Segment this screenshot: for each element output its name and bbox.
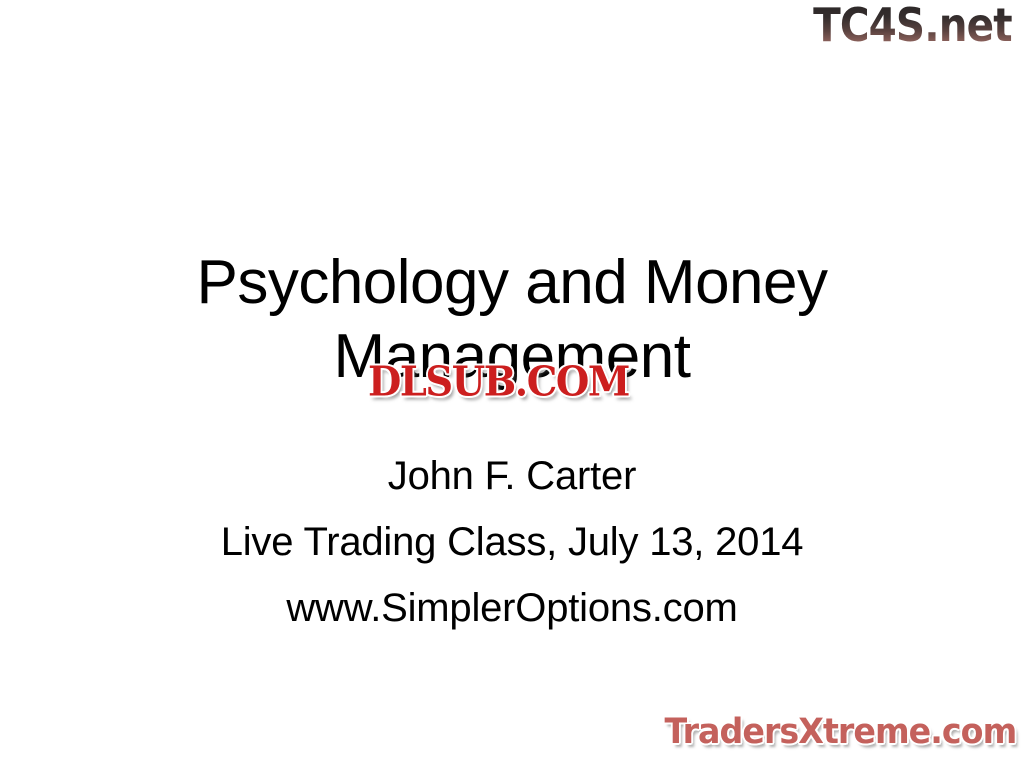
presentation-slide: TC4S.net Psychology and Money Management… bbox=[0, 0, 1024, 768]
watermark-tc4s-net: TC4S.net bbox=[813, 0, 1012, 50]
watermark-dlsub-com: DLSUB.COM bbox=[368, 358, 629, 406]
slide-subtitle-presenter: John F. Carter bbox=[0, 443, 1024, 509]
slide-title-line-1: Psychology and Money bbox=[0, 246, 1024, 320]
slide-subtitle-website: www.SimplerOptions.com bbox=[0, 575, 1024, 641]
watermark-tradersxtreme-com: TradersXtreme.com bbox=[664, 712, 1016, 752]
slide-subtitle-event: Live Trading Class, July 13, 2014 bbox=[0, 509, 1024, 575]
slide-subtitle: John F. Carter Live Trading Class, July … bbox=[0, 443, 1024, 641]
